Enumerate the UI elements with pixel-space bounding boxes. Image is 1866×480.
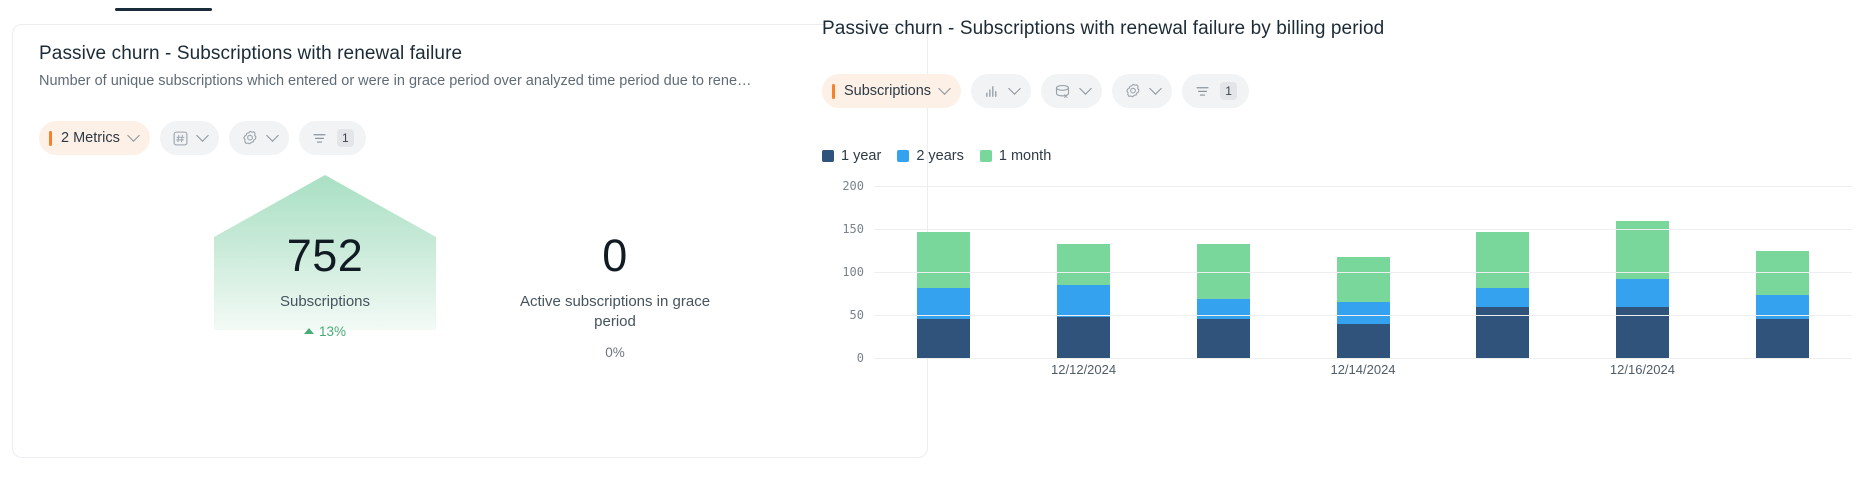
chevron-down-icon bbox=[1079, 82, 1092, 95]
chip-chart-type[interactable] bbox=[971, 74, 1031, 108]
x-axis-tick-label: 12/12/2024 bbox=[1014, 362, 1154, 377]
x-axis-tick-label bbox=[1153, 362, 1293, 377]
chevron-down-icon bbox=[196, 129, 209, 142]
chip-metric-selector-label: Subscriptions bbox=[844, 83, 931, 99]
x-axis-tick-label: 12/14/2024 bbox=[1293, 362, 1433, 377]
bar-segment[interactable] bbox=[1756, 319, 1809, 358]
chip-data-source[interactable] bbox=[1041, 74, 1102, 108]
bar-stack[interactable] bbox=[1616, 221, 1669, 358]
chevron-down-icon bbox=[1008, 82, 1021, 95]
bar-segment[interactable] bbox=[1337, 324, 1390, 358]
chip-settings[interactable] bbox=[1112, 74, 1172, 108]
filter-count-badge: 1 bbox=[1220, 82, 1237, 100]
x-axis-tick-label: 12/16/2024 bbox=[1573, 362, 1713, 377]
bar-segment[interactable] bbox=[1476, 232, 1529, 289]
chevron-down-icon bbox=[127, 129, 140, 142]
kpi-grace-period-value: 0 bbox=[470, 233, 760, 278]
y-axis-tick-label: 0 bbox=[828, 351, 874, 365]
gridline bbox=[874, 358, 1852, 359]
x-axis-tick-label bbox=[874, 362, 1014, 377]
y-axis-tick-label: 150 bbox=[828, 222, 874, 236]
kpi-subscriptions-value: 752 bbox=[180, 233, 470, 278]
legend-label: 1 month bbox=[999, 148, 1051, 164]
kpi-grace-period-trend-value: 0% bbox=[605, 345, 625, 360]
kpi-subscriptions[interactable]: 752 Subscriptions 13% bbox=[180, 175, 470, 339]
gridline bbox=[874, 229, 1852, 230]
database-icon bbox=[1053, 82, 1072, 101]
kpi-grace-period-trend: 0% bbox=[470, 345, 760, 360]
kpi-grace-period-label: Active subscriptions in grace period bbox=[510, 292, 720, 331]
bar-stack[interactable] bbox=[917, 232, 970, 358]
bar-segment[interactable] bbox=[1476, 288, 1529, 307]
chip-settings[interactable] bbox=[229, 121, 289, 155]
bar-segment[interactable] bbox=[1197, 299, 1250, 320]
right-card-title: Passive churn - Subscriptions with renew… bbox=[822, 18, 1384, 40]
bar-segment[interactable] bbox=[1057, 317, 1110, 358]
gridline bbox=[874, 315, 1852, 316]
active-tab-underline[interactable] bbox=[115, 8, 212, 11]
chip-filters[interactable]: 1 bbox=[299, 121, 366, 155]
chevron-down-icon bbox=[1149, 82, 1162, 95]
metric-color-bar-icon bbox=[49, 131, 52, 146]
stacked-bar-chart: 050100150200 12/12/202412/14/202412/16/2… bbox=[822, 186, 1852, 386]
y-axis-tick-label: 50 bbox=[828, 308, 874, 322]
kpi-group: 752 Subscriptions 13% 0 Active subscript… bbox=[39, 175, 901, 425]
bar-stack[interactable] bbox=[1756, 251, 1809, 358]
bar-segment[interactable] bbox=[1337, 302, 1390, 324]
chip-number-format[interactable] bbox=[160, 121, 219, 155]
kpi-grace-period[interactable]: 0 Active subscriptions in grace period 0… bbox=[470, 175, 760, 360]
chip-metrics-label: 2 Metrics bbox=[61, 130, 120, 146]
x-axis-tick-label bbox=[1712, 362, 1852, 377]
legend-item[interactable]: 2 years bbox=[897, 148, 964, 164]
kpi-subscriptions-trend-value: 13% bbox=[319, 324, 346, 339]
right-card-header: Passive churn - Subscriptions with renew… bbox=[822, 18, 1384, 40]
bar-chart-icon bbox=[983, 82, 1001, 100]
hash-box-icon bbox=[172, 130, 189, 147]
kpi-subscriptions-trend: 13% bbox=[180, 324, 470, 339]
legend-label: 1 year bbox=[841, 148, 881, 164]
dashboard-page: Passive churn - Subscriptions with renew… bbox=[0, 0, 1866, 480]
left-card-title: Passive churn - Subscriptions with renew… bbox=[39, 43, 901, 65]
passive-churn-kpi-card: Passive churn - Subscriptions with renew… bbox=[12, 24, 928, 458]
bar-stack[interactable] bbox=[1197, 244, 1250, 358]
bar-segment[interactable] bbox=[1337, 257, 1390, 302]
chart-legend: 1 year2 years1 month bbox=[822, 148, 1051, 164]
bar-segment[interactable] bbox=[1616, 279, 1669, 307]
bar-segment[interactable] bbox=[1057, 244, 1110, 285]
legend-label: 2 years bbox=[916, 148, 964, 164]
left-card-header: Passive churn - Subscriptions with renew… bbox=[39, 43, 901, 89]
trend-up-arrow-icon bbox=[304, 328, 314, 334]
bar-segment[interactable] bbox=[1197, 319, 1250, 358]
legend-swatch-icon bbox=[980, 150, 992, 162]
filter-count-badge: 1 bbox=[337, 129, 354, 147]
left-card-description: Number of unique subscriptions which ent… bbox=[39, 73, 884, 89]
chip-filters[interactable]: 1 bbox=[1182, 74, 1249, 108]
chart-plot-area: 050100150200 bbox=[874, 186, 1852, 358]
legend-swatch-icon bbox=[897, 150, 909, 162]
left-card-toolbar: 2 Metrics bbox=[39, 121, 366, 155]
y-axis-tick-label: 200 bbox=[828, 179, 874, 193]
filter-icon bbox=[1194, 83, 1211, 100]
gridline bbox=[874, 272, 1852, 273]
bar-segment[interactable] bbox=[1057, 285, 1110, 317]
metric-color-bar-icon bbox=[832, 84, 835, 99]
chip-metrics[interactable]: 2 Metrics bbox=[39, 121, 150, 155]
y-axis-tick-label: 100 bbox=[828, 265, 874, 279]
chevron-down-icon bbox=[266, 129, 279, 142]
legend-item[interactable]: 1 year bbox=[822, 148, 881, 164]
x-axis-tick-label bbox=[1433, 362, 1573, 377]
legend-swatch-icon bbox=[822, 150, 834, 162]
chart-x-axis: 12/12/202412/14/202412/16/2024 bbox=[874, 362, 1852, 377]
right-card-toolbar: Subscriptions bbox=[822, 74, 1249, 108]
bar-stack[interactable] bbox=[1057, 244, 1110, 358]
gridline bbox=[874, 186, 1852, 187]
kpi-subscriptions-label: Subscriptions bbox=[180, 292, 470, 312]
filter-icon bbox=[311, 130, 328, 147]
bar-segment[interactable] bbox=[917, 319, 970, 358]
bar-segment[interactable] bbox=[917, 232, 970, 289]
gear-icon bbox=[1124, 82, 1142, 100]
top-tab-strip bbox=[0, 0, 1866, 14]
legend-item[interactable]: 1 month bbox=[980, 148, 1051, 164]
chevron-down-icon bbox=[938, 82, 951, 95]
gear-icon bbox=[241, 129, 259, 147]
chip-metric-selector[interactable]: Subscriptions bbox=[822, 74, 961, 108]
bar-stack[interactable] bbox=[1476, 232, 1529, 358]
